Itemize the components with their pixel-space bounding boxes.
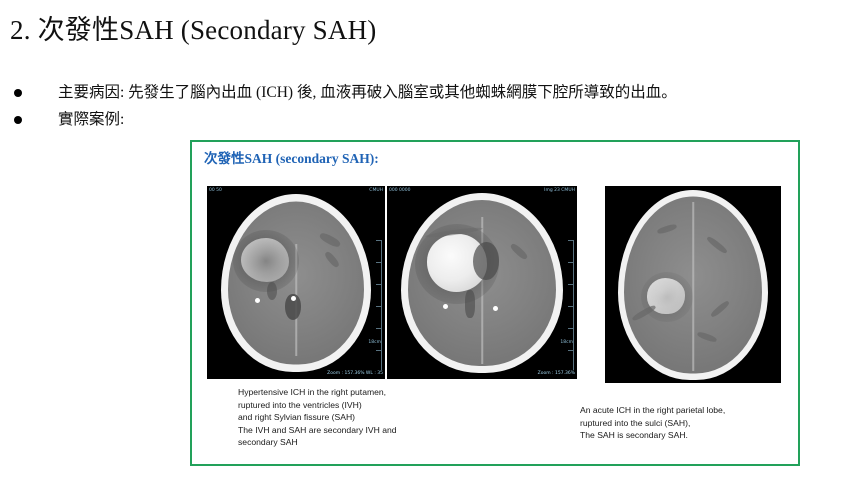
bullet-text-case: 實際案例: [36, 109, 124, 131]
list-item: 實際案例: [14, 109, 854, 131]
ct-corner-label-top-left: 00 50 [209, 188, 222, 194]
bullet-list: 主要病因: 先發生了腦內出血 (ICH) 後, 血液再破入腦室或其他蜘蛛網膜下腔… [14, 82, 854, 136]
ct-ruler-icon [568, 240, 574, 370]
figure-panel: 次發性SAH (secondary SAH): 00 50 CMUH 18cm … [190, 140, 800, 466]
bullet-text-cause: 主要病因: 先發生了腦內出血 (ICH) 後, 血液再破入腦室或其他蜘蛛網膜下腔… [36, 82, 677, 104]
ct-corner-label-top-left: 000 0000 [389, 188, 410, 194]
list-item: 主要病因: 先發生了腦內出血 (ICH) 後, 血液再破入腦室或其他蜘蛛網膜下腔… [14, 82, 854, 104]
caption-right: An acute ICH in the right parietal lobe,… [580, 404, 800, 442]
ct-corner-label-top-right: Img 23 CMUH [544, 188, 575, 194]
figure-heading: 次發性SAH (secondary SAH): [204, 150, 379, 167]
ct-image-strip: 00 50 CMUH 18cm Zoom : 157.36% WL : 35 [207, 186, 781, 383]
ct-scan-image-1: 00 50 CMUH 18cm Zoom : 157.36% WL : 35 [207, 186, 385, 379]
ct-scan-image-3 [605, 186, 781, 383]
ct-zoom-overlay-1: Zoom : 157.36% WL : 35 [327, 371, 383, 377]
ct-corner-label-top-right: CMUH [369, 188, 383, 194]
bullet-marker-icon [14, 109, 36, 131]
ct-scan-image-2: 000 0000 Img 23 CMUH 18cm Zoom : 157.36% [387, 186, 577, 379]
ct-zoom-overlay-2: Zoom : 157.36% [538, 371, 575, 377]
caption-left: Hypertensive ICH in the right putamen, r… [238, 386, 528, 449]
ct-ruler-icon [376, 240, 382, 370]
page-title: 2. 次發性SAH (Secondary SAH) [10, 14, 376, 46]
bullet-marker-icon [14, 82, 36, 104]
